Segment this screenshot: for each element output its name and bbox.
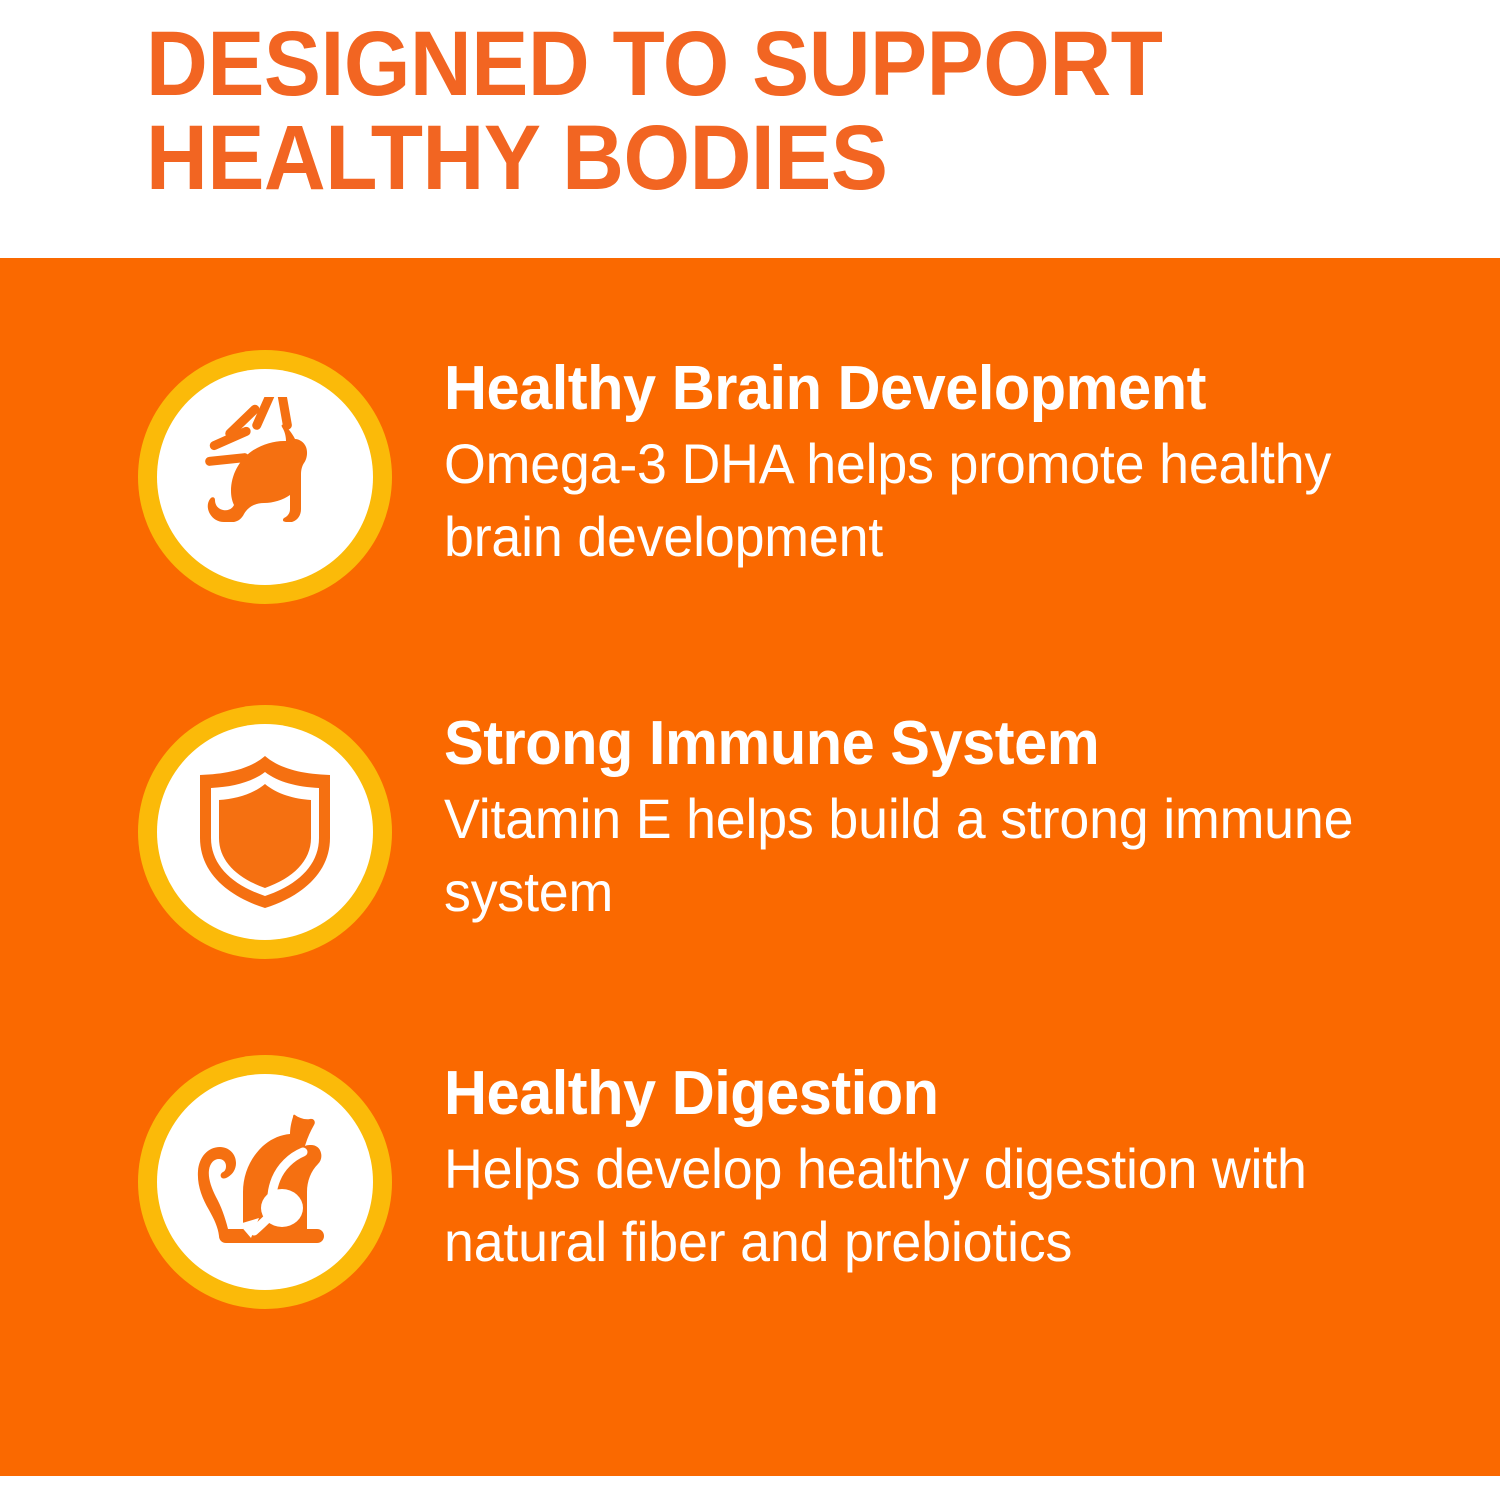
benefit-text-block: Healthy Digestion Helps develop healthy …	[444, 1055, 1500, 1278]
benefits-list: Healthy Brain Development Omega-3 DHA he…	[0, 258, 1500, 1476]
benefit-text-block: Strong Immune System Vitamin E helps bui…	[444, 705, 1500, 928]
page-title: DESIGNED TO SUPPORT HEALTHY BODIES	[146, 18, 1262, 206]
benefit-description: Omega-3 DHA helps promote healthy brain …	[444, 428, 1404, 574]
cat-brain-rays-icon	[157, 369, 373, 585]
benefit-description: Helps develop healthy digestion with nat…	[444, 1133, 1404, 1279]
benefit-icon-badge	[138, 705, 392, 959]
cat-digestion-icon	[157, 1074, 373, 1290]
product-benefits-poster: DESIGNED TO SUPPORT HEALTHY BODIES	[0, 0, 1500, 1500]
benefit-text-block: Healthy Brain Development Omega-3 DHA he…	[444, 350, 1500, 573]
benefits-panel: Healthy Brain Development Omega-3 DHA he…	[0, 258, 1500, 1476]
shield-icon	[157, 724, 373, 940]
header-band: DESIGNED TO SUPPORT HEALTHY BODIES	[0, 0, 1500, 258]
benefit-title: Strong Immune System	[444, 711, 1404, 777]
footer-strip	[0, 1476, 1500, 1500]
benefit-item-immune: Strong Immune System Vitamin E helps bui…	[0, 705, 1500, 1005]
benefit-item-digestion: Healthy Digestion Helps develop healthy …	[0, 1055, 1500, 1355]
benefit-description: Vitamin E helps build a strong immune sy…	[444, 783, 1404, 929]
benefit-title: Healthy Digestion	[444, 1061, 1404, 1127]
benefit-title: Healthy Brain Development	[444, 356, 1404, 422]
benefit-item-brain: Healthy Brain Development Omega-3 DHA he…	[0, 350, 1500, 650]
benefit-icon-badge	[138, 350, 392, 604]
benefit-icon-badge	[138, 1055, 392, 1309]
